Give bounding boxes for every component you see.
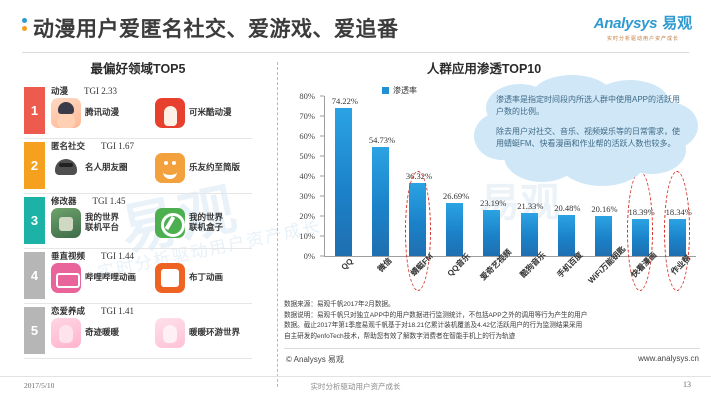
app-name-label: 暖暖环游世界 xyxy=(189,328,240,338)
rank-row: 2匿名社交TGI 1.67名人朋友圈乐友约至简版 xyxy=(24,139,252,194)
note-line-1: 数据来源：易观千帆2017年2月数据。 xyxy=(284,300,704,311)
x-label-slot: WiFi万能钥匙 xyxy=(585,258,622,298)
legend-label: 渗透率 xyxy=(393,85,417,96)
rank-row: 3修改器TGI 1.45我的世界联机平台我的世界联机盒子 xyxy=(24,194,252,249)
x-label-slot: 爱奇艺视频 xyxy=(473,258,510,298)
app-name-label: 我的世界联机盒子 xyxy=(189,213,223,233)
x-label-slot: QQ音乐 xyxy=(436,258,473,298)
y-axis-tick-label: 50% xyxy=(299,151,315,161)
x-axis-labels: QQ微信蜻蜓FMQQ音乐爱奇艺视频酷狗音乐手机百度WiFi万能钥匙快看漫画作业帮 xyxy=(325,258,696,298)
y-axis-tick-mark xyxy=(320,256,324,257)
y-axis-tick-label: 40% xyxy=(299,171,315,181)
buding-animation-icon xyxy=(155,263,185,293)
bar[interactable] xyxy=(669,219,686,256)
bar[interactable] xyxy=(446,203,463,256)
header-bullet-dots xyxy=(22,18,27,31)
slide-page-number: 13 xyxy=(683,380,691,389)
bottom-divider xyxy=(0,376,711,377)
app-pair: 奇迹暖暖暖暖环游世界 xyxy=(51,318,252,348)
rank-head: 恋爱养成TGI 1.41 xyxy=(51,304,252,317)
logo-tagline: 实时分析驱动用户资产成长 xyxy=(589,35,697,42)
x-label-slot: 手机百度 xyxy=(548,258,585,298)
app-entry[interactable]: 暖暖环游世界 xyxy=(155,318,240,348)
callout-paragraph-1: 渗透率是指定时间段内所选人群中使用APP的活跃用户数的比例。 xyxy=(496,94,684,119)
bar[interactable] xyxy=(595,216,612,256)
rank-head: 动漫TGI 2.33 xyxy=(51,84,252,97)
bilibili-icon xyxy=(51,263,81,293)
tgi-value: TGI 1.41 xyxy=(101,306,134,316)
rank-body: 匿名社交TGI 1.67名人朋友圈乐友约至简版 xyxy=(45,139,252,183)
app-entry[interactable]: 哔哩哔哩动画 xyxy=(51,263,155,293)
bar-slot: 26.69% xyxy=(436,96,473,256)
x-axis-tick-label: QQ xyxy=(339,257,354,272)
category-name: 动漫 xyxy=(51,85,68,97)
app-name-label: 乐友约至简版 xyxy=(189,163,240,173)
app-entry[interactable]: 名人朋友圈 xyxy=(51,153,155,183)
minecraft-box-icon xyxy=(155,208,185,238)
rank-head: 修改器TGI 1.45 xyxy=(51,194,252,207)
y-axis: 80%70%60%50%40%30%20%10%0% xyxy=(284,96,318,256)
footer-divider xyxy=(284,348,700,349)
rank-body: 动漫TGI 2.33腾讯动漫可米酷动漫 xyxy=(45,84,252,128)
tgi-value: TGI 1.45 xyxy=(93,196,126,206)
bar-value-label: 18.34% xyxy=(666,207,692,217)
app-entry[interactable]: 布丁动画 xyxy=(155,263,223,293)
category-name: 匿名社交 xyxy=(51,140,85,152)
rank-badge: 3 xyxy=(24,197,45,244)
app-name-label: 布丁动画 xyxy=(189,273,223,283)
kemiku-comic-icon xyxy=(155,98,185,128)
bar-value-label: 26.69% xyxy=(443,191,469,201)
rank-badge: 1 xyxy=(24,87,45,134)
rank-body: 垂直视频TGI 1.44哔哩哔哩动画布丁动画 xyxy=(45,249,252,293)
x-label-slot: 微信 xyxy=(362,258,399,298)
rank-list: 1动漫TGI 2.33腾讯动漫可米酷动漫2匿名社交TGI 1.67名人朋友圈乐友… xyxy=(24,84,252,359)
orange-dot-icon xyxy=(22,26,27,31)
app-entry[interactable]: 我的世界联机盒子 xyxy=(155,208,223,238)
celebrity-moments-icon xyxy=(51,153,81,183)
penetration-chart-panel: 人群应用渗透TOP10 渗透率 80%70%60%50%40%30%20%10%… xyxy=(284,58,704,79)
page-title: 动漫用户爱匿名社交、爱游戏、爱追番 xyxy=(33,13,399,43)
bar-slot: 36.32% xyxy=(399,96,436,256)
slide-root: 动漫用户爱匿名社交、爱游戏、爱追番 Analysys 易观 实时分析驱动用户资产… xyxy=(0,0,711,400)
app-pair: 腾讯动漫可米酷动漫 xyxy=(51,98,252,128)
rank-body: 恋爱养成TGI 1.41奇迹暖暖暖暖环游世界 xyxy=(45,304,252,348)
logo-wordmark-cn: 易观 xyxy=(662,12,692,33)
callout-cloud: 渗透率是指定时间段内所选人群中使用APP的活跃用户数的比例。 除去用户对社交、音… xyxy=(472,74,704,186)
bar-value-label: 21.33% xyxy=(517,201,543,211)
x-label-slot: QQ xyxy=(325,258,362,298)
logo-wordmark-en: Analysys xyxy=(594,15,657,32)
nuannuan-world-icon xyxy=(155,318,185,348)
app-pair: 我的世界联机平台我的世界联机盒子 xyxy=(51,208,252,238)
x-label-slot: 快看漫画 xyxy=(622,258,659,298)
tgi-value: TGI 2.33 xyxy=(84,86,117,96)
bar-value-label: 74.22% xyxy=(332,96,358,106)
callout-paragraph-2: 除去用户对社交、音乐、视频娱乐等的日常需求，使用蜻蜓FM、快看漫画和作业帮的活跃… xyxy=(496,126,684,151)
y-axis-tick-label: 80% xyxy=(299,91,315,101)
note-line-2: 数据说明：易观千帆只对独立APP中的用户数据进行监测统计，不包括APP之外的调用… xyxy=(284,311,704,322)
bar[interactable] xyxy=(483,210,500,256)
x-label-slot: 作业帮 xyxy=(659,258,696,298)
bar[interactable] xyxy=(558,215,575,256)
minecraft-platform-icon xyxy=(51,208,81,238)
y-axis-tick-mark xyxy=(320,136,324,137)
bar-value-label: 20.16% xyxy=(591,204,617,214)
category-name: 恋爱养成 xyxy=(51,305,85,317)
app-pair: 名人朋友圈乐友约至简版 xyxy=(51,153,252,183)
app-entry[interactable]: 我的世界联机平台 xyxy=(51,208,155,238)
tgi-value: TGI 1.44 xyxy=(101,251,134,261)
top5-preferred-categories-panel: 最偏好领域TOP5 1动漫TGI 2.33腾讯动漫可米酷动漫2匿名社交TGI 1… xyxy=(0,58,276,358)
bar[interactable] xyxy=(372,147,389,256)
rank-head: 匿名社交TGI 1.67 xyxy=(51,139,252,152)
footer-website: www.analysys.cn xyxy=(638,354,699,363)
rank-head: 垂直视频TGI 1.44 xyxy=(51,249,252,262)
y-axis-tick-label: 30% xyxy=(299,191,315,201)
blue-dot-icon xyxy=(22,18,27,23)
app-name-label: 哔哩哔哩动画 xyxy=(85,273,136,283)
left-panel-title: 最偏好领域TOP5 xyxy=(0,58,276,77)
tencent-comic-icon xyxy=(51,98,81,128)
app-name-label: 腾讯动漫 xyxy=(85,108,119,118)
bar[interactable] xyxy=(335,108,352,256)
footer-copyright: © Analysys 易观 xyxy=(286,354,344,365)
rank-body: 修改器TGI 1.45我的世界联机平台我的世界联机盒子 xyxy=(45,194,252,238)
rank-badge: 2 xyxy=(24,142,45,189)
y-axis-tick-label: 60% xyxy=(299,131,315,141)
legend-swatch-icon xyxy=(382,87,389,94)
bar[interactable] xyxy=(521,213,538,256)
y-axis-tick-mark xyxy=(320,116,324,117)
bar[interactable] xyxy=(409,183,426,256)
chart-legend: 渗透率 xyxy=(382,85,417,96)
y-axis-tick-mark xyxy=(320,216,324,217)
tgi-value: TGI 1.67 xyxy=(101,141,134,151)
app-pair: 哔哩哔哩动画布丁动画 xyxy=(51,263,252,293)
category-name: 修改器 xyxy=(51,195,77,207)
rank-row: 5恋爱养成TGI 1.41奇迹暖暖暖暖环游世界 xyxy=(24,304,252,359)
app-entry[interactable]: 奇迹暖暖 xyxy=(51,318,155,348)
app-name-label: 可米酷动漫 xyxy=(189,108,232,118)
data-source-notes: 数据来源：易观千帆2017年2月数据。 数据说明：易观千帆只对独立APP中的用户… xyxy=(284,300,704,343)
bar[interactable] xyxy=(632,219,649,256)
y-axis-tick-mark xyxy=(320,236,324,237)
rank-row: 4垂直视频TGI 1.44哔哩哔哩动画布丁动画 xyxy=(24,249,252,304)
x-label-slot: 酷狗音乐 xyxy=(510,258,547,298)
bar-value-label: 23.19% xyxy=(480,198,506,208)
category-name: 垂直视频 xyxy=(51,250,85,262)
y-axis-tick-label: 70% xyxy=(299,111,315,121)
y-axis-tick-mark xyxy=(320,196,324,197)
app-entry[interactable]: 可米酷动漫 xyxy=(155,98,232,128)
analysys-logo: Analysys 易观 实时分析驱动用户资产成长 xyxy=(589,12,697,42)
panel-divider xyxy=(277,62,278,387)
note-line-4: 自主研发的enfoTech技术，帮助您有效了解数字消费者在智能手机上的行为轨迹 xyxy=(284,332,704,343)
qiji-nuannuan-icon xyxy=(51,318,81,348)
y-axis-tick-label: 20% xyxy=(299,211,315,221)
app-name-label: 奇迹暖暖 xyxy=(85,328,119,338)
y-axis-tick-label: 10% xyxy=(299,231,315,241)
bar-slot: 74.22% xyxy=(325,96,362,256)
bar-value-label: 20.48% xyxy=(554,203,580,213)
leyouyue-icon xyxy=(155,153,185,183)
bar-slot: 54.73% xyxy=(362,96,399,256)
x-label-slot: 蜻蜓FM xyxy=(399,258,436,298)
header-divider xyxy=(22,52,689,53)
y-axis-tick-mark xyxy=(320,96,324,97)
bar-value-label: 54.73% xyxy=(369,135,395,145)
x-axis-tick-label: 微信 xyxy=(375,255,394,274)
bar-value-label: 36.32% xyxy=(406,171,432,181)
app-entry[interactable]: 腾讯动漫 xyxy=(51,98,155,128)
callout-text: 渗透率是指定时间段内所选人群中使用APP的活跃用户数的比例。 除去用户对社交、音… xyxy=(496,94,684,151)
app-entry[interactable]: 乐友约至简版 xyxy=(155,153,240,183)
note-line-3: 数据。截止2017年第1季度易观千帆基于对18.21亿累计装机覆盖及4.42亿活… xyxy=(284,321,704,332)
rank-badge: 4 xyxy=(24,252,45,299)
slide-tagline: 实时分析驱动用户资产成长 xyxy=(0,381,711,392)
app-name-label: 名人朋友圈 xyxy=(85,163,128,173)
app-name-label: 我的世界联机平台 xyxy=(85,213,119,233)
y-axis-tick-label: 0% xyxy=(304,251,315,261)
rank-badge: 5 xyxy=(24,307,45,354)
bar-value-label: 18.39% xyxy=(628,207,654,217)
slide-header: 动漫用户爱匿名社交、爱游戏、爱追番 Analysys 易观 实时分析驱动用户资产… xyxy=(0,0,711,55)
rank-row: 1动漫TGI 2.33腾讯动漫可米酷动漫 xyxy=(24,84,252,139)
y-axis-tick-mark xyxy=(320,156,324,157)
y-axis-tick-mark xyxy=(320,176,324,177)
